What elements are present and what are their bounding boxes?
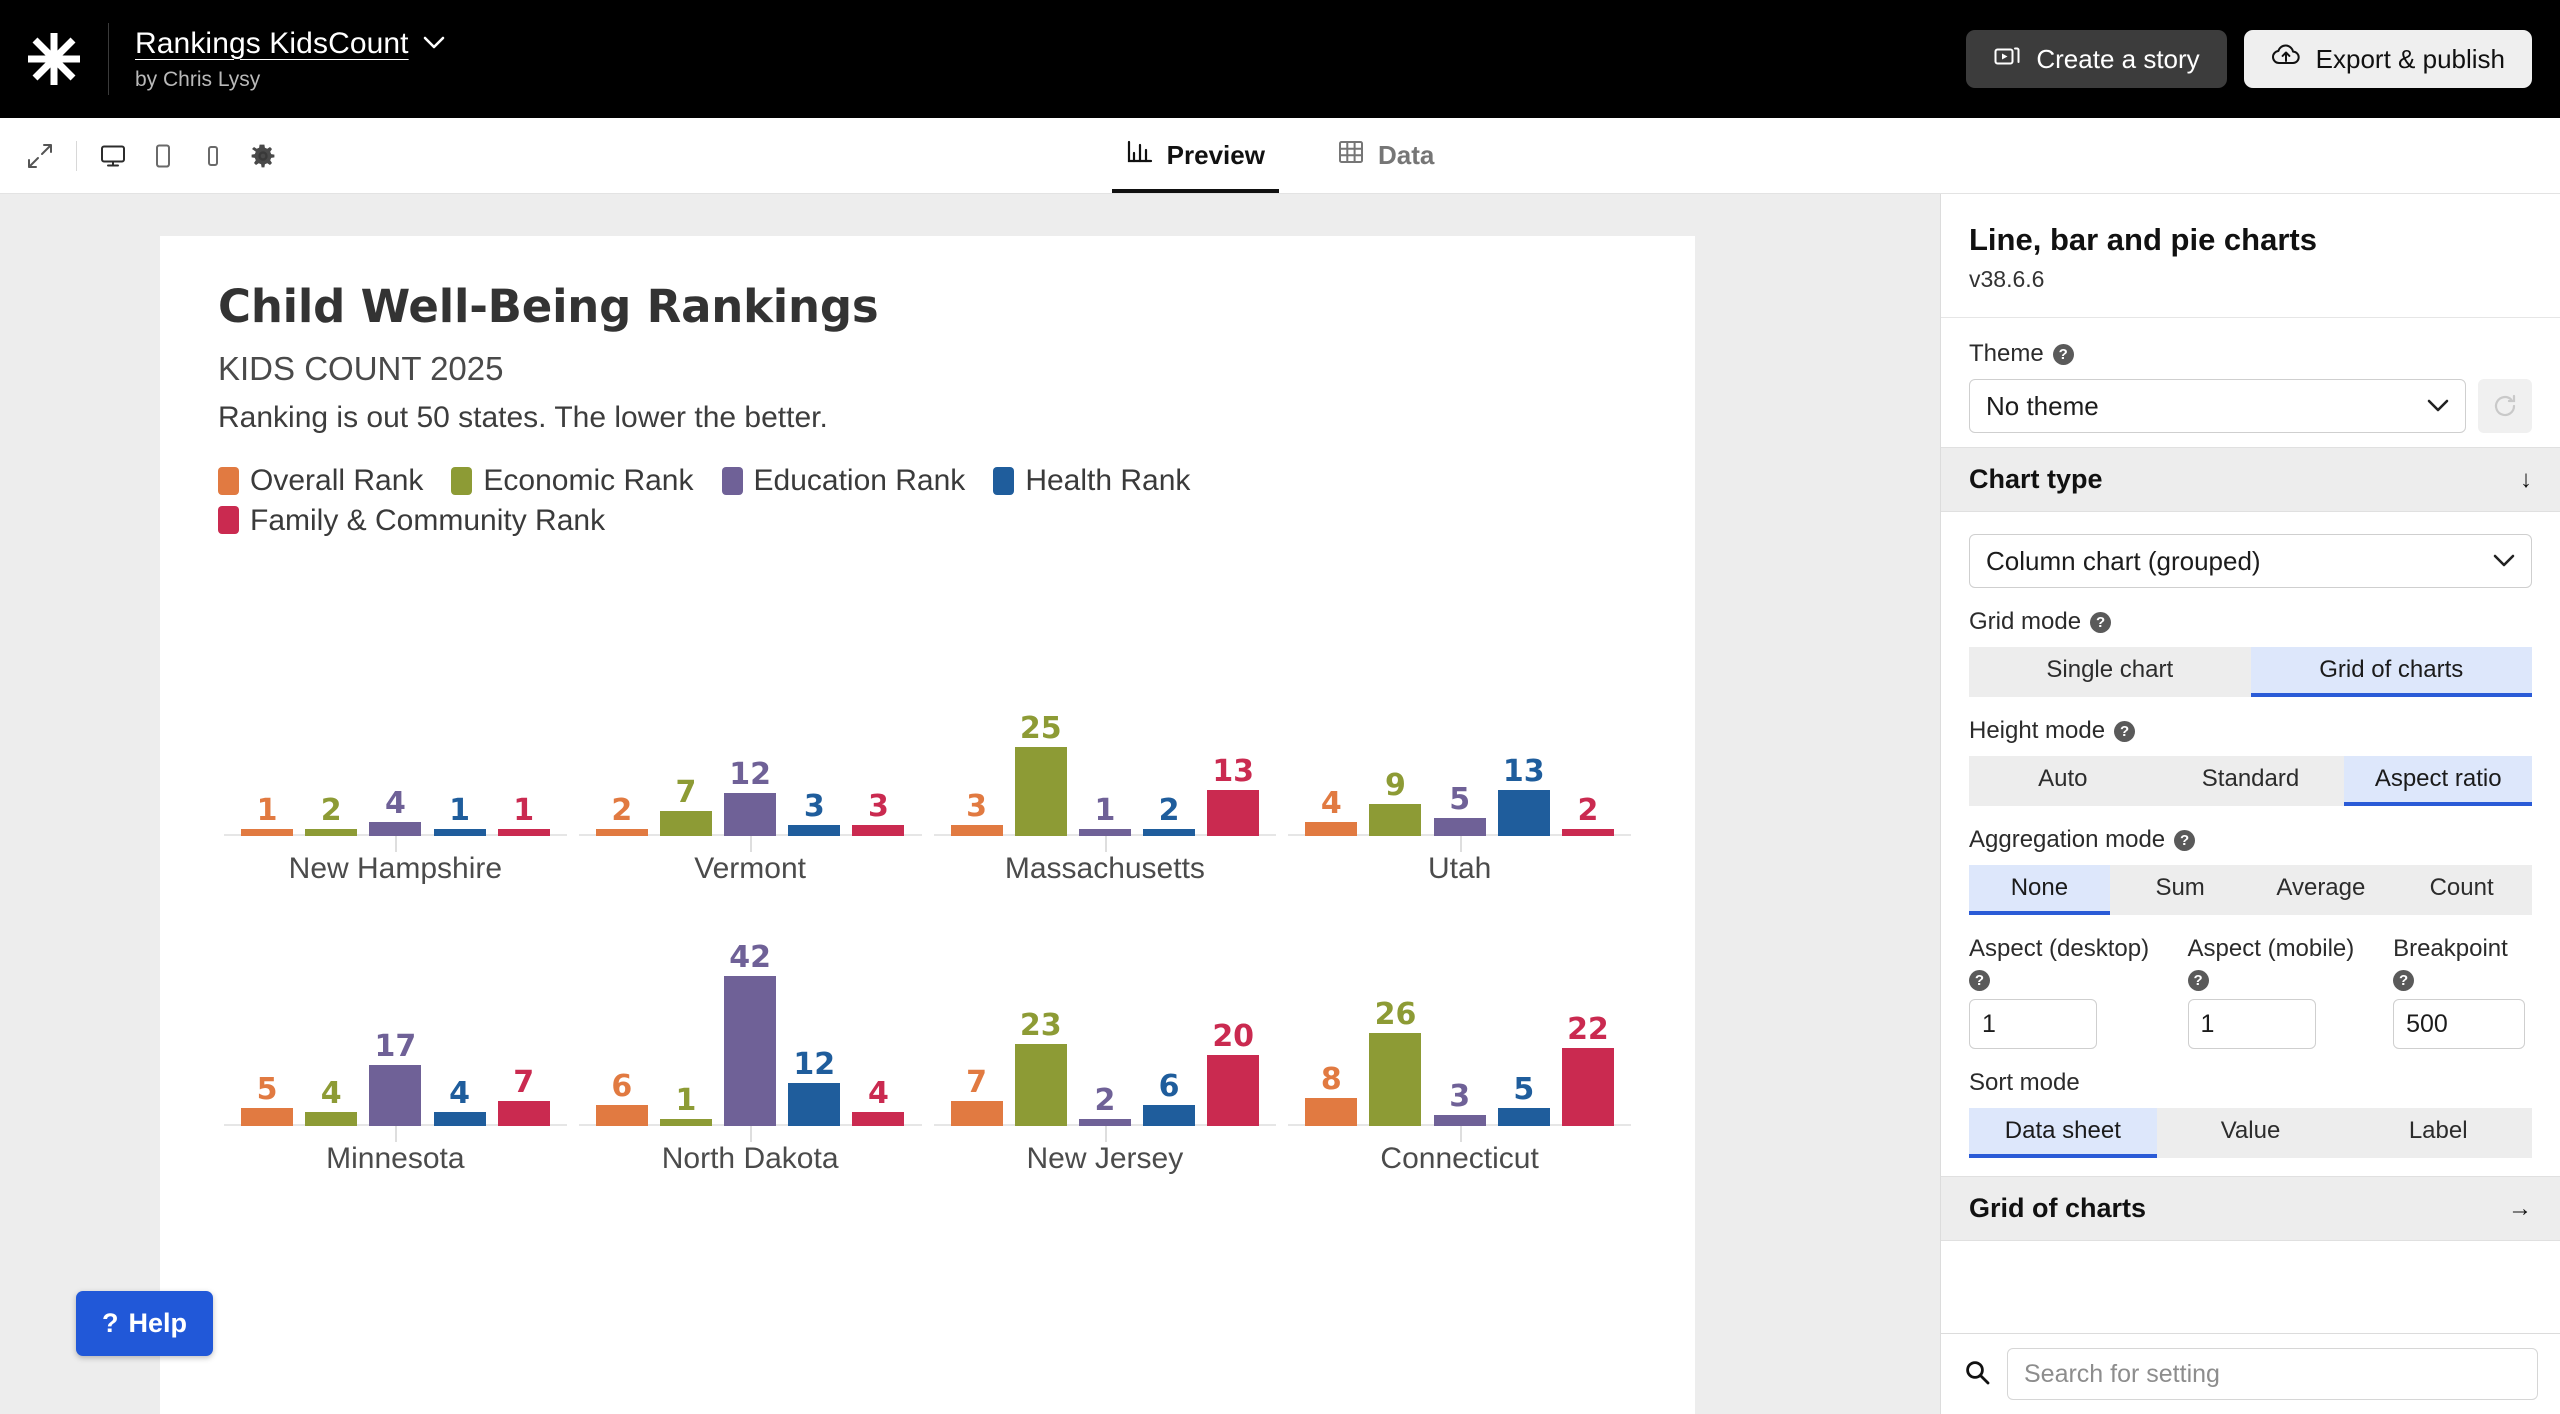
bar-value-label: 2	[1578, 796, 1599, 826]
bar[interactable]	[852, 825, 904, 836]
panel-axis-tick	[395, 836, 397, 852]
bar-value-label: 22	[1567, 1015, 1609, 1045]
bar-group[interactable]: 23	[1014, 1011, 1068, 1126]
panel-plot: 271233	[595, 618, 906, 836]
bar[interactable]	[660, 811, 712, 836]
breakpoint-field: Breakpoint ?	[2393, 935, 2532, 1049]
panel-axis-tick	[750, 836, 752, 852]
bar[interactable]	[1207, 790, 1259, 836]
search-setting-input[interactable]	[2007, 1348, 2538, 1400]
bar-group[interactable]: 13	[1497, 757, 1551, 836]
chart-panel: 3251213Massachusetts	[928, 602, 1283, 892]
bar-group[interactable]: 1	[659, 1086, 713, 1126]
bar-group[interactable]: 17	[368, 1032, 422, 1126]
create-story-button[interactable]: Create a story	[1966, 30, 2226, 88]
chart-type-block: Column chart (grouped) Grid mode ? Singl…	[1941, 512, 2560, 1176]
topbar-actions: Create a story Export & publish	[1966, 30, 2532, 88]
aspect-mobile-field: Aspect (mobile) ?	[2188, 935, 2378, 1049]
aggregation-mode-label-row: Aggregation mode ?	[1969, 826, 2532, 854]
sort-mode-label: Sort mode	[1969, 1069, 2080, 1097]
legend-swatch	[218, 467, 239, 495]
bar-group[interactable]: 5	[1433, 785, 1487, 836]
panel-plot: 8263522	[1304, 908, 1615, 1126]
bar[interactable]	[1369, 1033, 1421, 1126]
chevron-down-icon	[2493, 551, 2515, 572]
bar[interactable]	[1207, 1055, 1259, 1126]
legend-label: Economic Rank	[483, 461, 693, 501]
bar[interactable]	[241, 1108, 293, 1126]
bar-value-label: 20	[1212, 1022, 1254, 1052]
chart-headline: Child Well-Being Rankings	[218, 280, 1637, 333]
arrow-right-icon: →	[2508, 1195, 2532, 1223]
bar[interactable]	[1562, 1048, 1614, 1127]
help-button-label: Help	[129, 1308, 188, 1339]
grid-mode-label-row: Grid mode ?	[1969, 608, 2532, 636]
bar-value-label: 5	[1449, 785, 1470, 815]
bar-value-label: 4	[449, 1079, 470, 1109]
bar[interactable]	[1498, 790, 1550, 836]
bar[interactable]	[1562, 829, 1614, 836]
bar-group[interactable]: 1	[240, 796, 294, 836]
panel-axis-tick	[1105, 836, 1107, 852]
chart-panel: 7232620New Jersey	[928, 892, 1283, 1182]
bar-group[interactable]: 20	[1206, 1022, 1260, 1126]
aspect-fields-row: Aspect (desktop) ? Aspect (mobile) ?	[1969, 935, 2532, 1049]
theme-label: Theme	[1969, 340, 2044, 368]
legend-label: Education Rank	[754, 461, 966, 501]
bar-value-label: 5	[257, 1075, 278, 1105]
bar-value-label: 13	[1212, 757, 1254, 787]
bar[interactable]	[660, 1119, 712, 1126]
bar-value-label: 2	[1159, 796, 1180, 826]
sort-mode-label-row: Sort mode	[1969, 1069, 2532, 1097]
grid-mode-segmented-control: Single chartGrid of charts	[1969, 647, 2532, 697]
cloud-upload-icon	[2271, 43, 2301, 76]
sort-mode-option-data-sheet[interactable]: Data sheet	[1969, 1108, 2157, 1158]
bar-value-label: 12	[793, 1050, 835, 1080]
bar[interactable]	[1434, 1115, 1486, 1126]
bar-value-label: 2	[321, 796, 342, 826]
bar[interactable]	[1498, 1108, 1550, 1126]
bar-value-label: 13	[1503, 757, 1545, 787]
bar-group[interactable]: 26	[1368, 1000, 1422, 1126]
bar-group[interactable]: 2	[304, 796, 358, 836]
height-mode-option-standard[interactable]: Standard	[2157, 756, 2345, 806]
chart-title-link[interactable]: Rankings KidsCount	[135, 27, 409, 61]
panel-category-label: North Dakota	[573, 1142, 928, 1176]
height-mode-label-row: Height mode ?	[1969, 717, 2532, 745]
chevron-down-icon	[2427, 396, 2449, 417]
section-chart-type-label: Chart type	[1969, 464, 2103, 495]
help-tooltip-icon[interactable]: ?	[2393, 970, 2414, 991]
bar-group[interactable]: 4	[1304, 789, 1358, 836]
bar-value-label: 6	[1159, 1072, 1180, 1102]
bar-group[interactable]: 4	[304, 1079, 358, 1126]
help-tooltip-icon[interactable]: ?	[2114, 721, 2135, 742]
panel-category-label: Vermont	[573, 852, 928, 886]
help-tooltip-icon[interactable]: ?	[2053, 344, 2074, 365]
bar[interactable]	[1079, 1119, 1131, 1126]
bar-group[interactable]: 12	[723, 760, 777, 836]
chart-panel: 541747Minnesota	[218, 892, 573, 1182]
panel-axis-tick	[1105, 1126, 1107, 1142]
bar-group[interactable]: 1	[1078, 796, 1132, 836]
bar-value-label: 3	[966, 792, 987, 822]
breakpoint-label: Breakpoint	[2393, 935, 2508, 963]
bar-value-label: 7	[966, 1068, 987, 1098]
bar-group[interactable]: 6	[595, 1072, 649, 1126]
settings-panel-title: Line, bar and pie charts	[1969, 222, 2532, 258]
bar-group[interactable]: 3	[949, 792, 1003, 836]
story-slides-icon	[1993, 42, 2021, 77]
bar-group[interactable]: 42	[723, 943, 777, 1126]
bar-value-label: 4	[385, 789, 406, 819]
bar[interactable]	[369, 1065, 421, 1126]
bar-group[interactable]: 13	[1206, 757, 1260, 836]
chart-panel: 495132Utah	[1282, 602, 1637, 892]
legend-item[interactable]: Education Rank	[722, 461, 966, 501]
bar-group[interactable]: 2	[1561, 796, 1615, 836]
bar[interactable]	[434, 829, 486, 836]
help-tooltip-icon[interactable]: ?	[2174, 830, 2195, 851]
panel-axis-tick	[750, 1126, 752, 1142]
byline: by Chris Lysy	[135, 68, 445, 92]
sort-mode-option-value[interactable]: Value	[2157, 1108, 2345, 1158]
settings-search-footer	[1941, 1333, 2560, 1414]
legend-item[interactable]: Overall Rank	[218, 461, 423, 501]
bar-value-label: 7	[513, 1068, 534, 1098]
height-mode-segmented-control: AutoStandardAspect ratio	[1969, 756, 2532, 806]
bar[interactable]	[434, 1112, 486, 1126]
panel-axis-tick	[1460, 836, 1462, 852]
bar-group[interactable]: 4	[432, 1079, 486, 1126]
aggregation-mode-segmented-control: NoneSumAverageCount	[1969, 865, 2532, 915]
theme-refresh-button[interactable]	[2478, 379, 2532, 433]
panel-category-label: Utah	[1282, 852, 1637, 886]
aggregation-mode-option-none[interactable]: None	[1969, 865, 2110, 915]
bar-group[interactable]: 2	[595, 796, 649, 836]
bar-group[interactable]: 4	[851, 1079, 905, 1126]
bar-value-label: 3	[868, 792, 889, 822]
height-mode-label: Height mode	[1969, 717, 2105, 745]
help-tooltip-icon[interactable]: ?	[1969, 970, 1990, 991]
legend-label: Overall Rank	[250, 461, 423, 501]
mobile-icon[interactable]	[191, 134, 235, 178]
aspect-mobile-input[interactable]	[2188, 999, 2316, 1049]
legend-swatch	[993, 467, 1014, 495]
help-tooltip-icon[interactable]: ?	[2090, 612, 2111, 633]
datawrapper-asterisk-logo[interactable]	[0, 0, 108, 118]
bar-value-label: 42	[729, 943, 771, 973]
legend-item[interactable]: Family & Community Rank	[218, 501, 605, 541]
bar-chart-icon	[1126, 139, 1154, 172]
search-icon	[1963, 1358, 1991, 1391]
aggregation-mode-option-average[interactable]: Average	[2251, 865, 2392, 915]
bar-value-label: 4	[868, 1079, 889, 1109]
bar-group[interactable]: 3	[1433, 1082, 1487, 1126]
bar[interactable]	[1015, 747, 1067, 836]
panel-category-label: New Hampshire	[218, 852, 573, 886]
panel-category-label: Connecticut	[1282, 1142, 1637, 1176]
bar-group[interactable]: 6	[1142, 1072, 1196, 1126]
settings-panel-version: v38.6.6	[1969, 266, 2532, 293]
export-publish-button[interactable]: Export & publish	[2244, 30, 2532, 88]
bar-group[interactable]: 9	[1368, 771, 1422, 836]
panel-axis-tick	[1460, 1126, 1462, 1142]
bar[interactable]	[951, 1101, 1003, 1126]
chart-panel: 8263522Connecticut	[1282, 892, 1637, 1182]
editor-toolbar: Preview Data	[0, 118, 2560, 194]
aspect-desktop-label: Aspect (desktop)	[1969, 935, 2149, 963]
bar[interactable]	[241, 829, 293, 836]
bar-value-label: 3	[804, 792, 825, 822]
bar-value-label: 8	[1321, 1065, 1342, 1095]
bar[interactable]	[596, 829, 648, 836]
tab-data-label: Data	[1378, 140, 1434, 171]
top-bar: Rankings KidsCount by Chris Lysy Create …	[0, 0, 2560, 118]
tablet-icon[interactable]	[141, 134, 185, 178]
bar-group[interactable]: 12	[787, 1050, 841, 1126]
grid-mode-option-single-chart[interactable]: Single chart	[1969, 647, 2251, 697]
panel-plot: 541747	[240, 908, 551, 1126]
bar-group[interactable]: 4	[368, 789, 422, 836]
bar[interactable]	[1305, 1098, 1357, 1127]
legend-item[interactable]: Health Rank	[993, 461, 1190, 501]
chevron-down-icon[interactable]	[423, 34, 445, 53]
desktop-icon[interactable]	[91, 134, 135, 178]
gear-icon[interactable]	[241, 134, 285, 178]
tab-preview-label: Preview	[1167, 140, 1265, 171]
chart-subtitle: KIDS COUNT 2025	[218, 350, 1637, 388]
bar-group[interactable]: 25	[1014, 714, 1068, 836]
bar-group[interactable]: 1	[432, 796, 486, 836]
bar-group[interactable]: 7	[659, 778, 713, 836]
bar[interactable]	[852, 1112, 904, 1126]
bar[interactable]	[1079, 829, 1131, 836]
aggregation-mode-label: Aggregation mode	[1969, 826, 2165, 854]
section-grid-of-charts[interactable]: Grid of charts →	[1941, 1176, 2560, 1241]
bar[interactable]	[1143, 1105, 1195, 1126]
sort-mode-segmented-control: Data sheetValueLabel	[1969, 1108, 2532, 1158]
legend-label: Health Rank	[1025, 461, 1190, 501]
aspect-desktop-input[interactable]	[1969, 999, 2097, 1049]
bar-group[interactable]: 7	[497, 1068, 551, 1126]
aggregation-mode-option-sum[interactable]: Sum	[2110, 865, 2251, 915]
grid-mode-label: Grid mode	[1969, 608, 2081, 636]
bar-value-label: 1	[1094, 796, 1115, 826]
height-mode-option-auto[interactable]: Auto	[1969, 756, 2157, 806]
panel-plot: 495132	[1304, 618, 1615, 836]
panel-plot: 7232620	[950, 908, 1261, 1126]
bar-value-label: 7	[676, 778, 697, 808]
title-block: Rankings KidsCount by Chris Lysy	[109, 27, 445, 92]
bar[interactable]	[724, 976, 776, 1126]
bar[interactable]	[1369, 804, 1421, 836]
arrow-down-icon: ↓	[2520, 466, 2532, 494]
aggregation-mode-option-count[interactable]: Count	[2391, 865, 2532, 915]
bar-value-label: 12	[729, 760, 771, 790]
tab-data[interactable]: Data	[1323, 118, 1448, 193]
small-multiples-grid: 12411New Hampshire271233Vermont3251213Ma…	[218, 602, 1637, 1182]
bar[interactable]	[498, 1101, 550, 1126]
bar-value-label: 9	[1385, 771, 1406, 801]
bar-value-label: 1	[676, 1086, 697, 1116]
settings-panel: Line, bar and pie charts v38.6.6 Theme ?…	[1940, 194, 2560, 1414]
create-story-label: Create a story	[2036, 44, 2199, 75]
bar-group[interactable]: 5	[1497, 1075, 1551, 1126]
bar-group[interactable]: 2	[1078, 1086, 1132, 1126]
grid-mode-option-grid-of-charts[interactable]: Grid of charts	[2251, 647, 2533, 697]
bar[interactable]	[1143, 829, 1195, 836]
bar-value-label: 2	[1094, 1086, 1115, 1116]
sort-mode-option-label[interactable]: Label	[2344, 1108, 2532, 1158]
chart-legend: Overall RankEconomic RankEducation RankH…	[218, 461, 1348, 540]
bar-group[interactable]: 5	[240, 1075, 294, 1126]
table-grid-icon	[1337, 139, 1365, 172]
panel-axis-tick	[395, 1126, 397, 1142]
toolbar-divider	[76, 141, 77, 171]
section-chart-type[interactable]: Chart type ↓	[1941, 447, 2560, 512]
bar[interactable]	[788, 1083, 840, 1126]
bar[interactable]	[951, 825, 1003, 836]
bar[interactable]	[305, 829, 357, 836]
breakpoint-input[interactable]	[2393, 999, 2525, 1049]
legend-label: Family & Community Rank	[250, 501, 605, 541]
help-tooltip-icon[interactable]: ?	[2188, 970, 2209, 991]
chart-type-value: Column chart (grouped)	[1986, 546, 2261, 577]
bar-value-label: 1	[257, 796, 278, 826]
bar-value-label: 17	[375, 1032, 417, 1062]
settings-scroll-region[interactable]: Line, bar and pie charts v38.6.6 Theme ?…	[1941, 194, 2560, 1333]
chart-panel: 271233Vermont	[573, 602, 928, 892]
bar[interactable]	[498, 829, 550, 836]
bar[interactable]	[1434, 818, 1486, 836]
export-publish-label: Export & publish	[2316, 44, 2505, 75]
question-mark-icon: ?	[102, 1308, 119, 1339]
bar-group[interactable]: 3	[851, 792, 905, 836]
bar[interactable]	[788, 825, 840, 836]
help-button[interactable]: ? Help	[76, 1291, 213, 1356]
panel-category-label: Massachusetts	[928, 852, 1283, 886]
theme-block: Theme ? No theme	[1941, 318, 2560, 447]
bar[interactable]	[369, 822, 421, 836]
bar[interactable]	[724, 793, 776, 836]
chart-description: Ranking is out 50 states. The lower the …	[218, 401, 1637, 435]
bar[interactable]	[305, 1112, 357, 1126]
theme-select-value: No theme	[1986, 391, 2099, 422]
tab-preview[interactable]: Preview	[1112, 118, 1279, 193]
panel-plot: 12411	[240, 618, 551, 836]
device-preview-group	[91, 134, 285, 178]
bar-group[interactable]: 1	[497, 796, 551, 836]
view-tabs: Preview Data	[0, 118, 2560, 193]
section-grid-of-charts-label: Grid of charts	[1969, 1193, 2146, 1224]
chart-canvas: Child Well-Being Rankings KIDS COUNT 202…	[160, 236, 1695, 1414]
bar-group[interactable]: 22	[1561, 1015, 1615, 1127]
height-mode-option-aspect-ratio[interactable]: Aspect ratio	[2344, 756, 2532, 806]
bar-value-label: 23	[1020, 1011, 1062, 1041]
main-area: Child Well-Being Rankings KIDS COUNT 202…	[0, 194, 2560, 1414]
legend-swatch	[722, 467, 743, 495]
bar-value-label: 4	[1321, 789, 1342, 819]
bar[interactable]	[1305, 822, 1357, 836]
bar-value-label: 25	[1020, 714, 1062, 744]
settings-header: Line, bar and pie charts v38.6.6	[1941, 194, 2560, 318]
chart-panel: 12411New Hampshire	[218, 602, 573, 892]
legend-swatch	[218, 506, 239, 534]
bar-value-label: 3	[1449, 1082, 1470, 1112]
bar[interactable]	[1015, 1044, 1067, 1126]
legend-item[interactable]: Economic Rank	[451, 461, 693, 501]
panel-plot: 3251213	[950, 618, 1261, 836]
chart-type-select[interactable]: Column chart (grouped)	[1969, 534, 2532, 588]
bar-value-label: 6	[611, 1072, 632, 1102]
panel-category-label: Minnesota	[218, 1142, 573, 1176]
bar-value-label: 1	[449, 796, 470, 826]
aspect-mobile-label: Aspect (mobile)	[2188, 935, 2355, 963]
theme-label-row: Theme ?	[1969, 340, 2532, 368]
panel-plot: 6142124	[595, 908, 906, 1126]
bar-value-label: 5	[1513, 1075, 1534, 1105]
bar-value-label: 2	[611, 796, 632, 826]
aspect-desktop-field: Aspect (desktop) ?	[1969, 935, 2172, 1049]
bar-value-label: 1	[513, 796, 534, 826]
bar-group[interactable]: 3	[787, 792, 841, 836]
panel-category-label: New Jersey	[928, 1142, 1283, 1176]
bar-value-label: 4	[321, 1079, 342, 1109]
theme-select[interactable]: No theme	[1969, 379, 2466, 433]
bar-value-label: 26	[1375, 1000, 1417, 1030]
expand-arrows-icon[interactable]	[18, 134, 62, 178]
bar[interactable]	[596, 1105, 648, 1126]
chart-preview-area: Child Well-Being Rankings KIDS COUNT 202…	[0, 194, 1940, 1414]
legend-swatch	[451, 467, 472, 495]
bar-group[interactable]: 7	[949, 1068, 1003, 1126]
bar-group[interactable]: 2	[1142, 796, 1196, 836]
chart-panel: 6142124North Dakota	[573, 892, 928, 1182]
bar-group[interactable]: 8	[1304, 1065, 1358, 1127]
